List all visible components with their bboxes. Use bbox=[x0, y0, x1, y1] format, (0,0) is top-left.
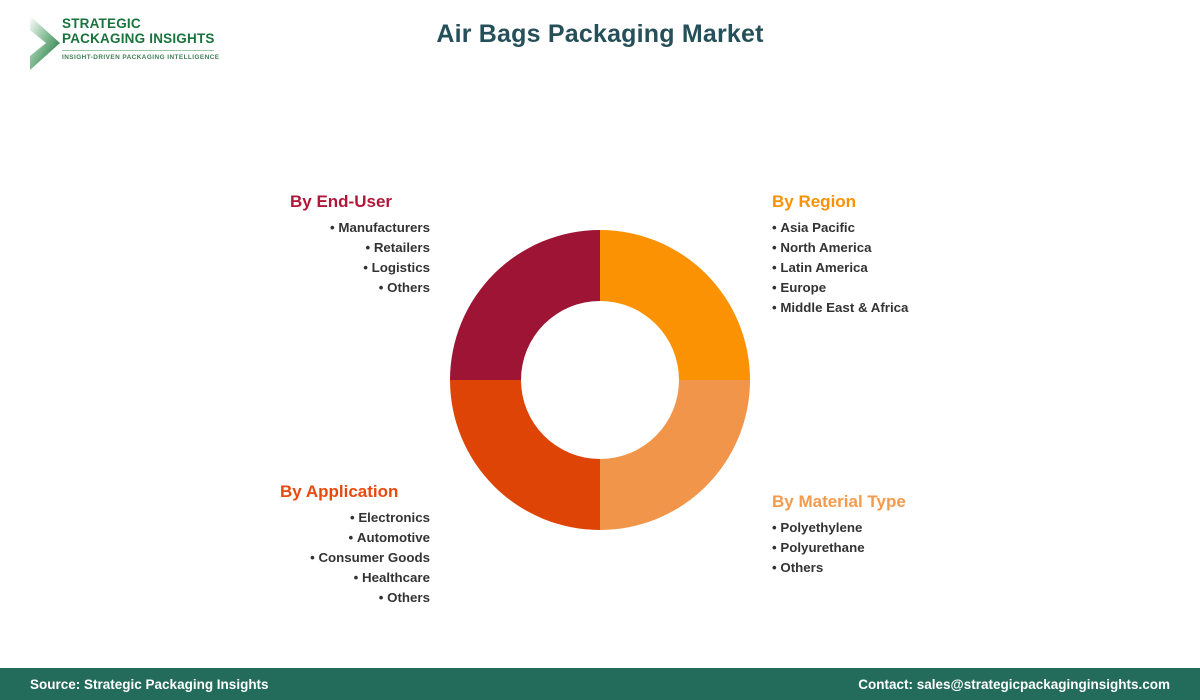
logo-tagline: INSIGHT-DRIVEN PACKAGING INTELLIGENCE bbox=[62, 54, 220, 61]
list-item: Electronics bbox=[280, 508, 430, 528]
list-item: Polyurethane bbox=[772, 538, 972, 558]
list-item: Asia Pacific bbox=[772, 218, 972, 238]
segment-list-material-type: Polyethylene Polyurethane Others bbox=[772, 518, 972, 578]
list-item: Others bbox=[280, 588, 430, 608]
logo-divider bbox=[62, 50, 214, 51]
segment-title-region: By Region bbox=[772, 192, 972, 212]
segment-group-application: By Application Electronics Automotive Co… bbox=[280, 482, 430, 608]
segment-group-region: By Region Asia Pacific North America Lat… bbox=[772, 192, 972, 318]
footer-contact: Contact: sales@strategicpackaginginsight… bbox=[858, 677, 1170, 692]
segment-list-application: Electronics Automotive Consumer Goods He… bbox=[280, 508, 430, 608]
list-item: North America bbox=[772, 238, 972, 258]
list-item: Healthcare bbox=[280, 568, 430, 588]
segment-title-application: By Application bbox=[280, 482, 430, 502]
donut-slice-end-user bbox=[450, 230, 600, 380]
list-item: Logistics bbox=[290, 258, 430, 278]
footer-bar: Source: Strategic Packaging Insights Con… bbox=[0, 668, 1200, 700]
list-item: Latin America bbox=[772, 258, 972, 278]
segment-group-material-type: By Material Type Polyethylene Polyuretha… bbox=[772, 492, 972, 578]
list-item: Consumer Goods bbox=[280, 548, 430, 568]
segment-title-material-type: By Material Type bbox=[772, 492, 972, 512]
segment-list-region: Asia Pacific North America Latin America… bbox=[772, 218, 972, 318]
list-item: Europe bbox=[772, 278, 972, 298]
list-item: Manufacturers bbox=[290, 218, 430, 238]
donut-slice-material-type bbox=[600, 380, 750, 530]
page-title: Air Bags Packaging Market bbox=[0, 20, 1200, 49]
list-item: Others bbox=[290, 278, 430, 298]
segment-list-end-user: Manufacturers Retailers Logistics Others bbox=[290, 218, 430, 298]
list-item: Polyethylene bbox=[772, 518, 972, 538]
segment-title-end-user: By End-User bbox=[290, 192, 430, 212]
segment-group-end-user: By End-User Manufacturers Retailers Logi… bbox=[290, 192, 430, 298]
footer-source: Source: Strategic Packaging Insights bbox=[30, 677, 269, 692]
list-item: Retailers bbox=[290, 238, 430, 258]
donut-slice-region bbox=[600, 230, 750, 380]
donut-chart bbox=[450, 230, 750, 530]
list-item: Automotive bbox=[280, 528, 430, 548]
list-item: Others bbox=[772, 558, 972, 578]
list-item: Middle East & Africa bbox=[772, 298, 972, 318]
donut-slice-application bbox=[450, 380, 600, 530]
